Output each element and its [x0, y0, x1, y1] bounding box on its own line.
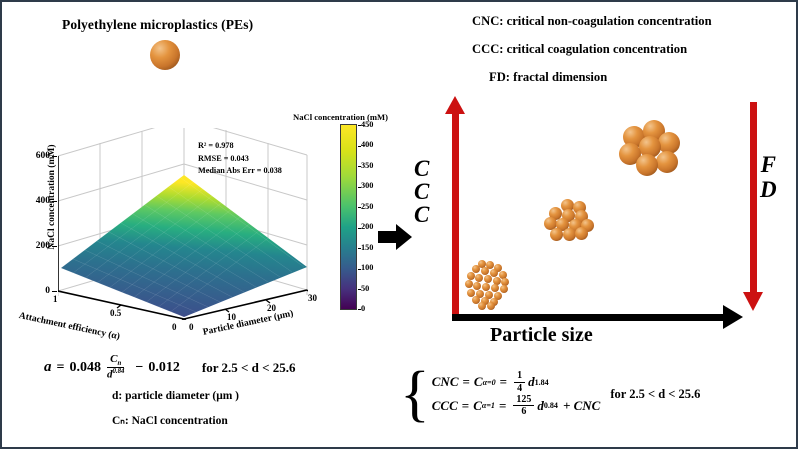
plot-ytick-mark-200 [52, 246, 57, 247]
plot-ytick-200: 200 [24, 241, 50, 251]
fd-axis-label: F D [760, 152, 777, 202]
abbreviation-legend: CNC: critical non-coagulation concentrat… [472, 14, 712, 98]
colorbar-label-350: 350 [361, 162, 373, 170]
eq-cnc-exponent: 1.84 [535, 378, 549, 387]
eq-alpha-minus: − [135, 360, 143, 376]
ccc-axis-line [452, 110, 459, 315]
colorbar-label-200: 200 [361, 223, 373, 231]
plot-ztick-30: 30 [308, 293, 317, 303]
equation-cnc: CNC = C α=0 = 1 4 d1.84 [432, 371, 601, 394]
particle-size-axis-line [452, 314, 727, 321]
plot-xtick-0: 0 [172, 322, 177, 332]
colorbar-label-300: 300 [361, 182, 373, 190]
eq-cnc-frac-num: 1 [514, 371, 525, 383]
eq-ccc-sub: α=1 [482, 401, 495, 410]
curly-brace-icon: { [400, 368, 430, 420]
plot-ytick-mark-0 [52, 291, 57, 292]
equation-ccc: CCC = C α=1 = 125 6 d0.84 + CNC [432, 395, 601, 418]
eq-cnc-var: C [474, 374, 483, 390]
eq-alpha-num-sub: n [117, 360, 121, 367]
equation-system-cnc-ccc: { CNC = C α=0 = 1 4 d1.84 CCC = C α=1 = [400, 368, 700, 420]
ccc-char-1: C [414, 157, 429, 180]
plot-ytick-mark-600 [52, 156, 57, 157]
eq-alpha-den-exp: 0.84 [112, 368, 124, 375]
ccc-axis-label: C C C [414, 157, 429, 226]
eq-ccc-exponent: 0.84 [544, 401, 558, 410]
particle-size-arrowhead-icon [723, 305, 743, 329]
stat-rmse: RMSE = 0.043 [198, 153, 282, 166]
plot-xtick-1: 1 [53, 294, 58, 304]
legend-ccc: CCC: critical coagulation concentration [472, 42, 712, 57]
transition-arrow-icon [378, 224, 412, 250]
pe-particle-sphere [150, 40, 180, 70]
colorbar-label-100: 100 [361, 264, 373, 272]
eq-alpha-lhs: a [44, 359, 52, 376]
plot-ytick-400: 400 [24, 196, 50, 206]
legend-cnc: CNC: critical non-coagulation concentrat… [472, 14, 712, 29]
eq-ccc-name: CCC [432, 398, 458, 414]
definition-cn: Cₙ: NaCl concentration [112, 413, 239, 427]
colorbar-label-250: 250 [361, 203, 373, 211]
concept-diagram: C C C F D Particle size [420, 102, 780, 352]
eq-ccc-tail: + CNC [563, 398, 600, 414]
ccc-axis-arrowhead-icon [445, 96, 465, 114]
particle-cluster-small [464, 260, 514, 308]
eq-ccc-frac-num: 125 [513, 395, 534, 407]
colorbar: 450 400 350 300 250 200 150 100 50 0 [340, 124, 357, 310]
equation-system-condition: for 2.5 < d < 25.6 [610, 387, 700, 402]
eq-ccc-equals-1: = [462, 398, 469, 414]
fd-axis-arrowhead-icon [743, 292, 763, 311]
colorbar-label-150: 150 [361, 244, 373, 252]
fd-axis-line [750, 102, 757, 297]
ccc-char-3: C [414, 203, 429, 226]
eq-ccc-frac-den: 6 [518, 406, 529, 417]
eq-cnc-equals-1: = [463, 374, 470, 390]
colorbar-label-400: 400 [361, 141, 373, 149]
definition-d: d: particle diameter (μm ) [112, 390, 239, 402]
fd-char-2: D [760, 177, 777, 202]
eq-ccc-var: C [473, 398, 482, 414]
particle-cluster-medium [542, 199, 597, 239]
plot-ztick-0: 0 [189, 322, 194, 332]
fd-char-1: F [760, 152, 777, 177]
colorbar-title: NaCl concentration (mM) [293, 112, 388, 122]
stat-median-abs-err: Median Abs Err = 0.038 [198, 165, 282, 178]
colorbar-label-50: 50 [361, 285, 369, 293]
stat-r2: R² = 0.978 [198, 140, 282, 153]
eq-cnc-equals-2: = [500, 374, 507, 390]
colorbar-label-0: 0 [361, 305, 365, 313]
eq-alpha-condition: for 2.5 < d < 25.6 [202, 360, 296, 376]
particle-cluster-large [618, 120, 680, 176]
equation-alpha: a = 0.048 Cn d0.84 − 0.012 for 2.5 < d <… [44, 354, 296, 381]
symbol-definitions: d: particle diameter (μm ) Cₙ: NaCl conc… [112, 390, 239, 438]
particle-size-axis-label: Particle size [490, 324, 593, 347]
eq-alpha-constant: 0.012 [148, 360, 180, 376]
legend-fd: FD: fractal dimension [489, 70, 712, 85]
colorbar-label-450: 450 [361, 121, 373, 129]
figure-frame: Polyethylene microplastics (PEs) CNC: cr… [0, 0, 798, 449]
plot-ytick-0: 0 [24, 286, 50, 296]
plot-xtick-0.5: 0.5 [110, 308, 121, 318]
eq-cnc-frac-den: 4 [514, 383, 525, 394]
pe-title: Polyethylene microplastics (PEs) [62, 17, 253, 33]
plot-ytick-600: 600 [24, 151, 50, 161]
eq-cnc-sub: α=0 [483, 378, 496, 387]
plot-statistics: R² = 0.978 RMSE = 0.043 Median Abs Err =… [198, 140, 282, 178]
plot-ytick-mark-400 [52, 201, 57, 202]
ccc-char-2: C [414, 180, 429, 203]
eq-ccc-equals-2: = [499, 398, 506, 414]
eq-alpha-equals: = [57, 360, 65, 376]
eq-alpha-coefficient: 0.048 [69, 360, 101, 376]
eq-cnc-name: CNC [432, 374, 459, 390]
